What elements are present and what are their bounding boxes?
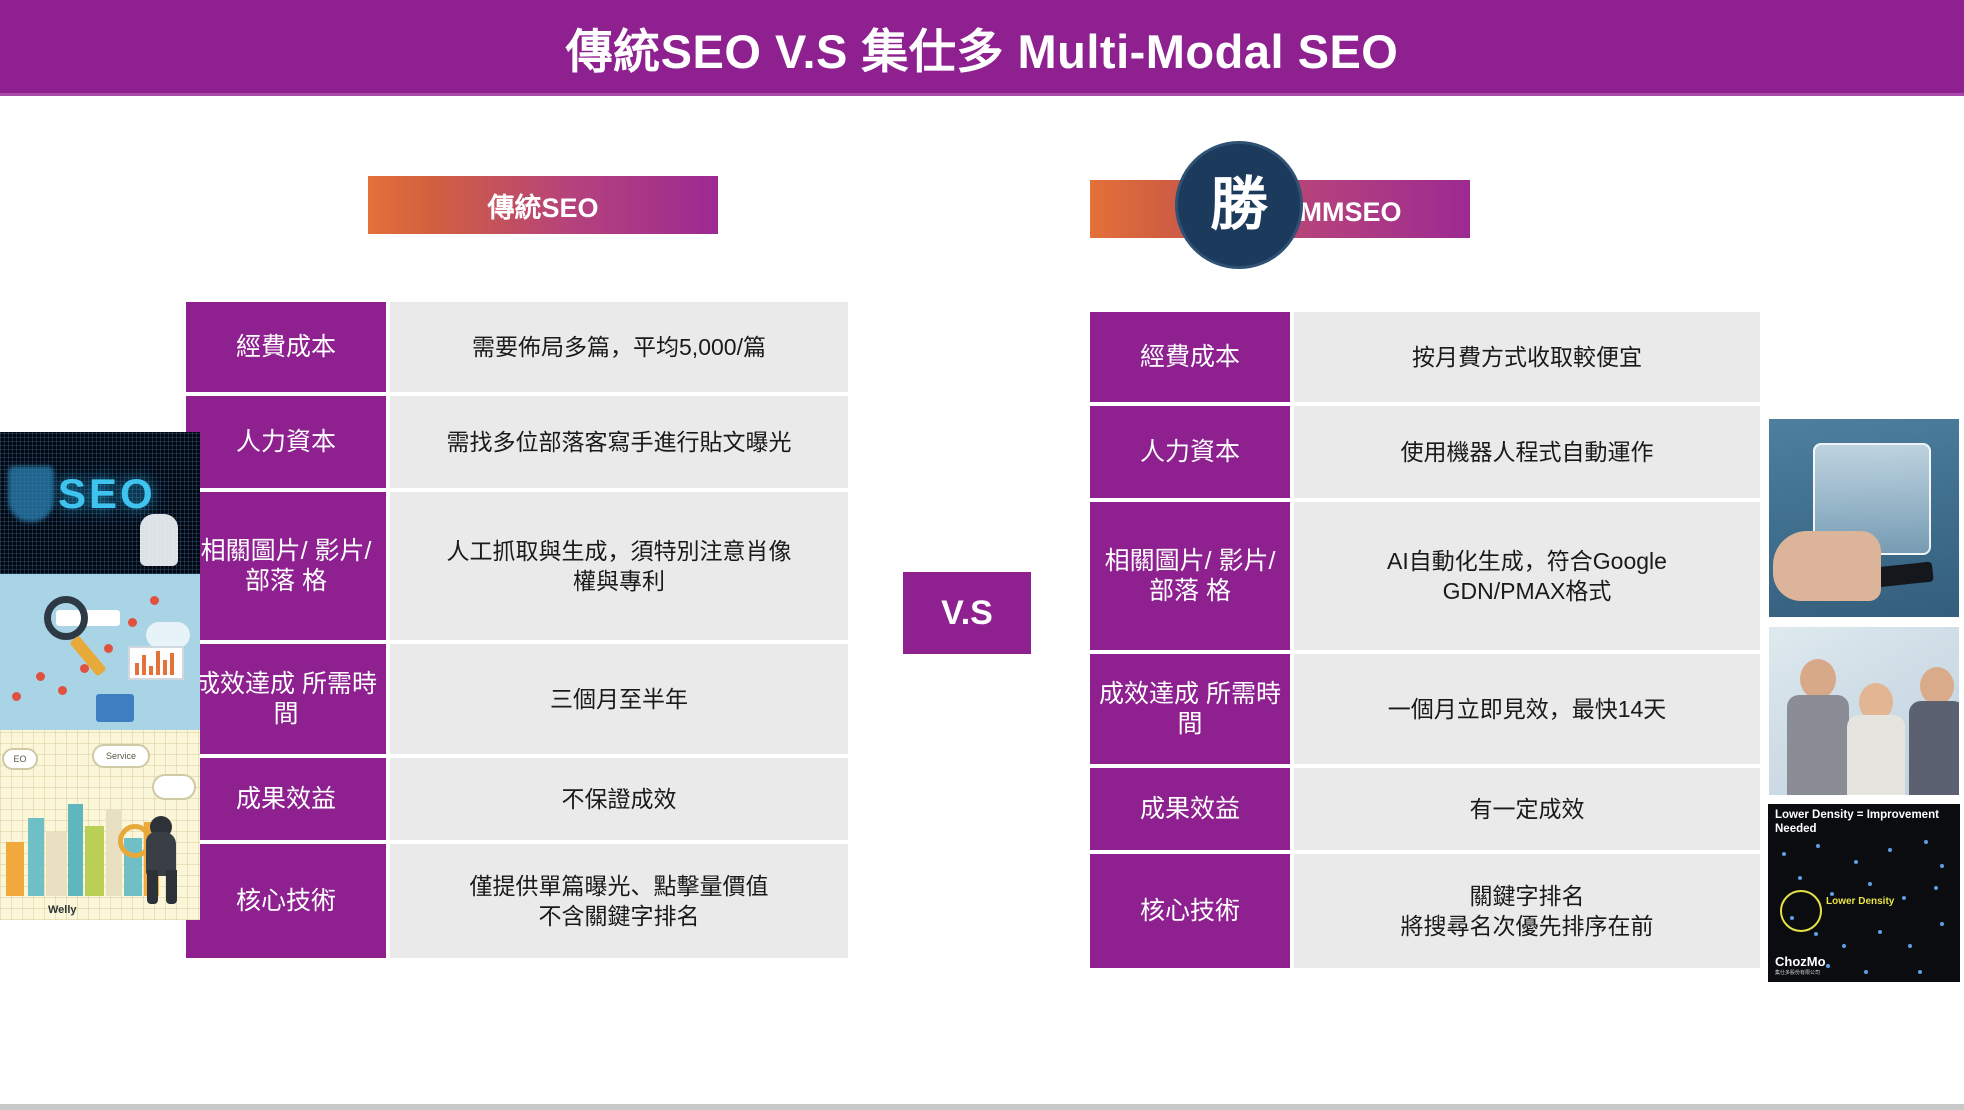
row-value: 關鍵字排名 將搜尋名次優先排序在前 — [1294, 854, 1760, 968]
folder-icon — [96, 694, 134, 722]
graph-node — [1888, 848, 1892, 852]
graph-node — [1924, 840, 1928, 844]
vs-badge-label: V.S — [941, 594, 993, 633]
table-row: 成效達成 所需時間 一個月立即見效，最快14天 — [1090, 654, 1760, 764]
shield-icon — [8, 466, 54, 522]
cloud-icon — [146, 622, 190, 648]
table-row: 人力資本 使用機器人程式自動運作 — [1090, 406, 1760, 498]
data-point — [12, 692, 21, 701]
data-point — [80, 664, 89, 673]
welly-brand-label: Welly — [48, 904, 77, 916]
hand-graphic — [1773, 531, 1881, 601]
vs-badge: V.S — [903, 572, 1031, 654]
data-point — [36, 672, 45, 681]
building — [6, 842, 24, 896]
row-value: 按月費方式收取較便宜 — [1294, 312, 1760, 402]
row-label: 核心技術 — [186, 844, 386, 958]
building — [46, 832, 66, 896]
keyword-network-graph: Lower Density = Improvement Needed Lower… — [1764, 800, 1964, 986]
graph-node — [1902, 896, 1906, 900]
row-label: 人力資本 — [186, 396, 386, 488]
row-value: 有一定成效 — [1294, 768, 1760, 850]
graph-node — [1918, 970, 1922, 974]
speech-bubble-text — [152, 774, 196, 800]
graph-node — [1816, 844, 1820, 848]
building — [106, 810, 122, 896]
lower-density-highlight-circle — [1780, 890, 1822, 932]
graph-node — [1782, 852, 1786, 856]
seo-analytics-infographic — [0, 574, 200, 730]
table-row: 經費成本 需要佈局多篇，平均5,000/篇 — [186, 302, 848, 392]
network-graph-title: Lower Density = Improvement Needed — [1775, 809, 1955, 837]
row-label: 經費成本 — [1090, 312, 1290, 402]
person-figure — [1909, 661, 1964, 795]
graph-node — [1864, 970, 1868, 974]
page-title: 傳統SEO V.S 集仕多 Multi-Modal SEO — [566, 13, 1399, 82]
graph-node — [1826, 964, 1830, 968]
table-row: 成效達成 所需時間 三個月至半年 — [186, 644, 848, 754]
row-label: 核心技術 — [1090, 854, 1290, 968]
graph-node — [1940, 922, 1944, 926]
person-figure — [1847, 673, 1905, 795]
row-label: 相關圖片/ 影片/部落 格 — [186, 492, 386, 640]
data-point — [150, 596, 159, 605]
bar-chart-icon — [128, 646, 184, 680]
data-point — [104, 644, 113, 653]
table-row: 相關圖片/ 影片/部落 格 AI自動化生成，符合Google GDN/PMAX格… — [1090, 502, 1760, 650]
row-value: 需找多位部落客寫手進行貼文曝光 — [390, 396, 848, 488]
graph-node — [1842, 944, 1846, 948]
row-value: 一個月立即見效，最快14天 — [1294, 654, 1760, 764]
row-label: 經費成本 — [186, 302, 386, 392]
data-point — [58, 686, 67, 695]
seo-keyboard-photo: SEO — [0, 432, 200, 574]
row-label: 成果效益 — [186, 758, 386, 840]
person-figure — [142, 816, 184, 904]
row-value: 不保證成效 — [390, 758, 848, 840]
title-banner: 傳統SEO V.S 集仕多 Multi-Modal SEO — [0, 0, 1964, 95]
row-value: 僅提供單篇曝光、點擊量價值 不含關鍵字排名 — [390, 844, 848, 958]
graph-node — [1814, 932, 1818, 936]
city-search-illustration: EO Service Welly — [0, 730, 200, 920]
chozmo-brand-label: ChozMo 集仕多股份有限公司 — [1775, 954, 1826, 976]
data-point — [128, 618, 137, 627]
graph-node — [1854, 860, 1858, 864]
slide-canvas: 傳統SEO V.S 集仕多 Multi-Modal SEO 傳統SEO 集仕多M… — [0, 0, 1964, 1110]
graph-node — [1908, 944, 1912, 948]
table-row: 相關圖片/ 影片/部落 格 人工抓取與生成，須特別注意肖像 權與專利 — [186, 492, 848, 640]
speech-bubble-seo: EO — [2, 748, 38, 770]
comparison-table-mmseo: 經費成本 按月費方式收取較便宜 人力資本 使用機器人程式自動運作 相關圖片/ 影… — [1090, 312, 1760, 968]
graph-node — [1878, 930, 1882, 934]
chozmo-brand-text: ChozMo — [1775, 954, 1826, 969]
table-row: 人力資本 需找多位部落客寫手進行貼文曝光 — [186, 396, 848, 488]
bottom-rule — [0, 1104, 1964, 1110]
graph-node — [1940, 864, 1944, 868]
hand-cursor-icon — [140, 514, 178, 566]
chozmo-brand-subtext: 集仕多股份有限公司 — [1775, 969, 1826, 976]
row-value: 使用機器人程式自動運作 — [1294, 406, 1760, 498]
hand-phone-cloud-photo — [1764, 414, 1964, 622]
ai-business-people-illustration — [1764, 622, 1964, 800]
lower-density-annotation: Lower Density — [1826, 896, 1894, 908]
win-badge-label: 勝 — [1210, 176, 1268, 234]
row-label: 成效達成 所需時間 — [1090, 654, 1290, 764]
row-value: 需要佈局多篇，平均5,000/篇 — [390, 302, 848, 392]
row-label: 相關圖片/ 影片/部落 格 — [1090, 502, 1290, 650]
table-row: 經費成本 按月費方式收取較便宜 — [1090, 312, 1760, 402]
building — [85, 826, 104, 896]
row-value: AI自動化生成，符合Google GDN/PMAX格式 — [1294, 502, 1760, 650]
column-header-left-label: 傳統SEO — [487, 186, 598, 225]
seo-photo-caption: SEO — [58, 470, 156, 518]
graph-node — [1934, 886, 1938, 890]
table-row: 成果效益 不保證成效 — [186, 758, 848, 840]
row-value: 人工抓取與生成，須特別注意肖像 權與專利 — [390, 492, 848, 640]
row-label: 人力資本 — [1090, 406, 1290, 498]
win-badge: 勝 — [1175, 141, 1303, 269]
person-figure — [1787, 655, 1849, 795]
row-label: 成果效益 — [1090, 768, 1290, 850]
building — [28, 818, 44, 896]
building — [68, 804, 83, 896]
table-row: 成果效益 有一定成效 — [1090, 768, 1760, 850]
magnifier-icon — [44, 596, 88, 640]
banner-bottom-edge — [0, 93, 1964, 96]
table-row: 核心技術 僅提供單篇曝光、點擊量價值 不含關鍵字排名 — [186, 844, 848, 958]
graph-node — [1868, 882, 1872, 886]
row-value: 三個月至半年 — [390, 644, 848, 754]
graph-node — [1798, 876, 1802, 880]
table-row: 核心技術 關鍵字排名 將搜尋名次優先排序在前 — [1090, 854, 1760, 968]
speech-bubble-service: Service — [92, 744, 150, 768]
row-label: 成效達成 所需時間 — [186, 644, 386, 754]
column-header-traditional: 傳統SEO — [368, 176, 718, 234]
comparison-table-traditional: 經費成本 需要佈局多篇，平均5,000/篇 人力資本 需找多位部落客寫手進行貼文… — [186, 302, 848, 958]
